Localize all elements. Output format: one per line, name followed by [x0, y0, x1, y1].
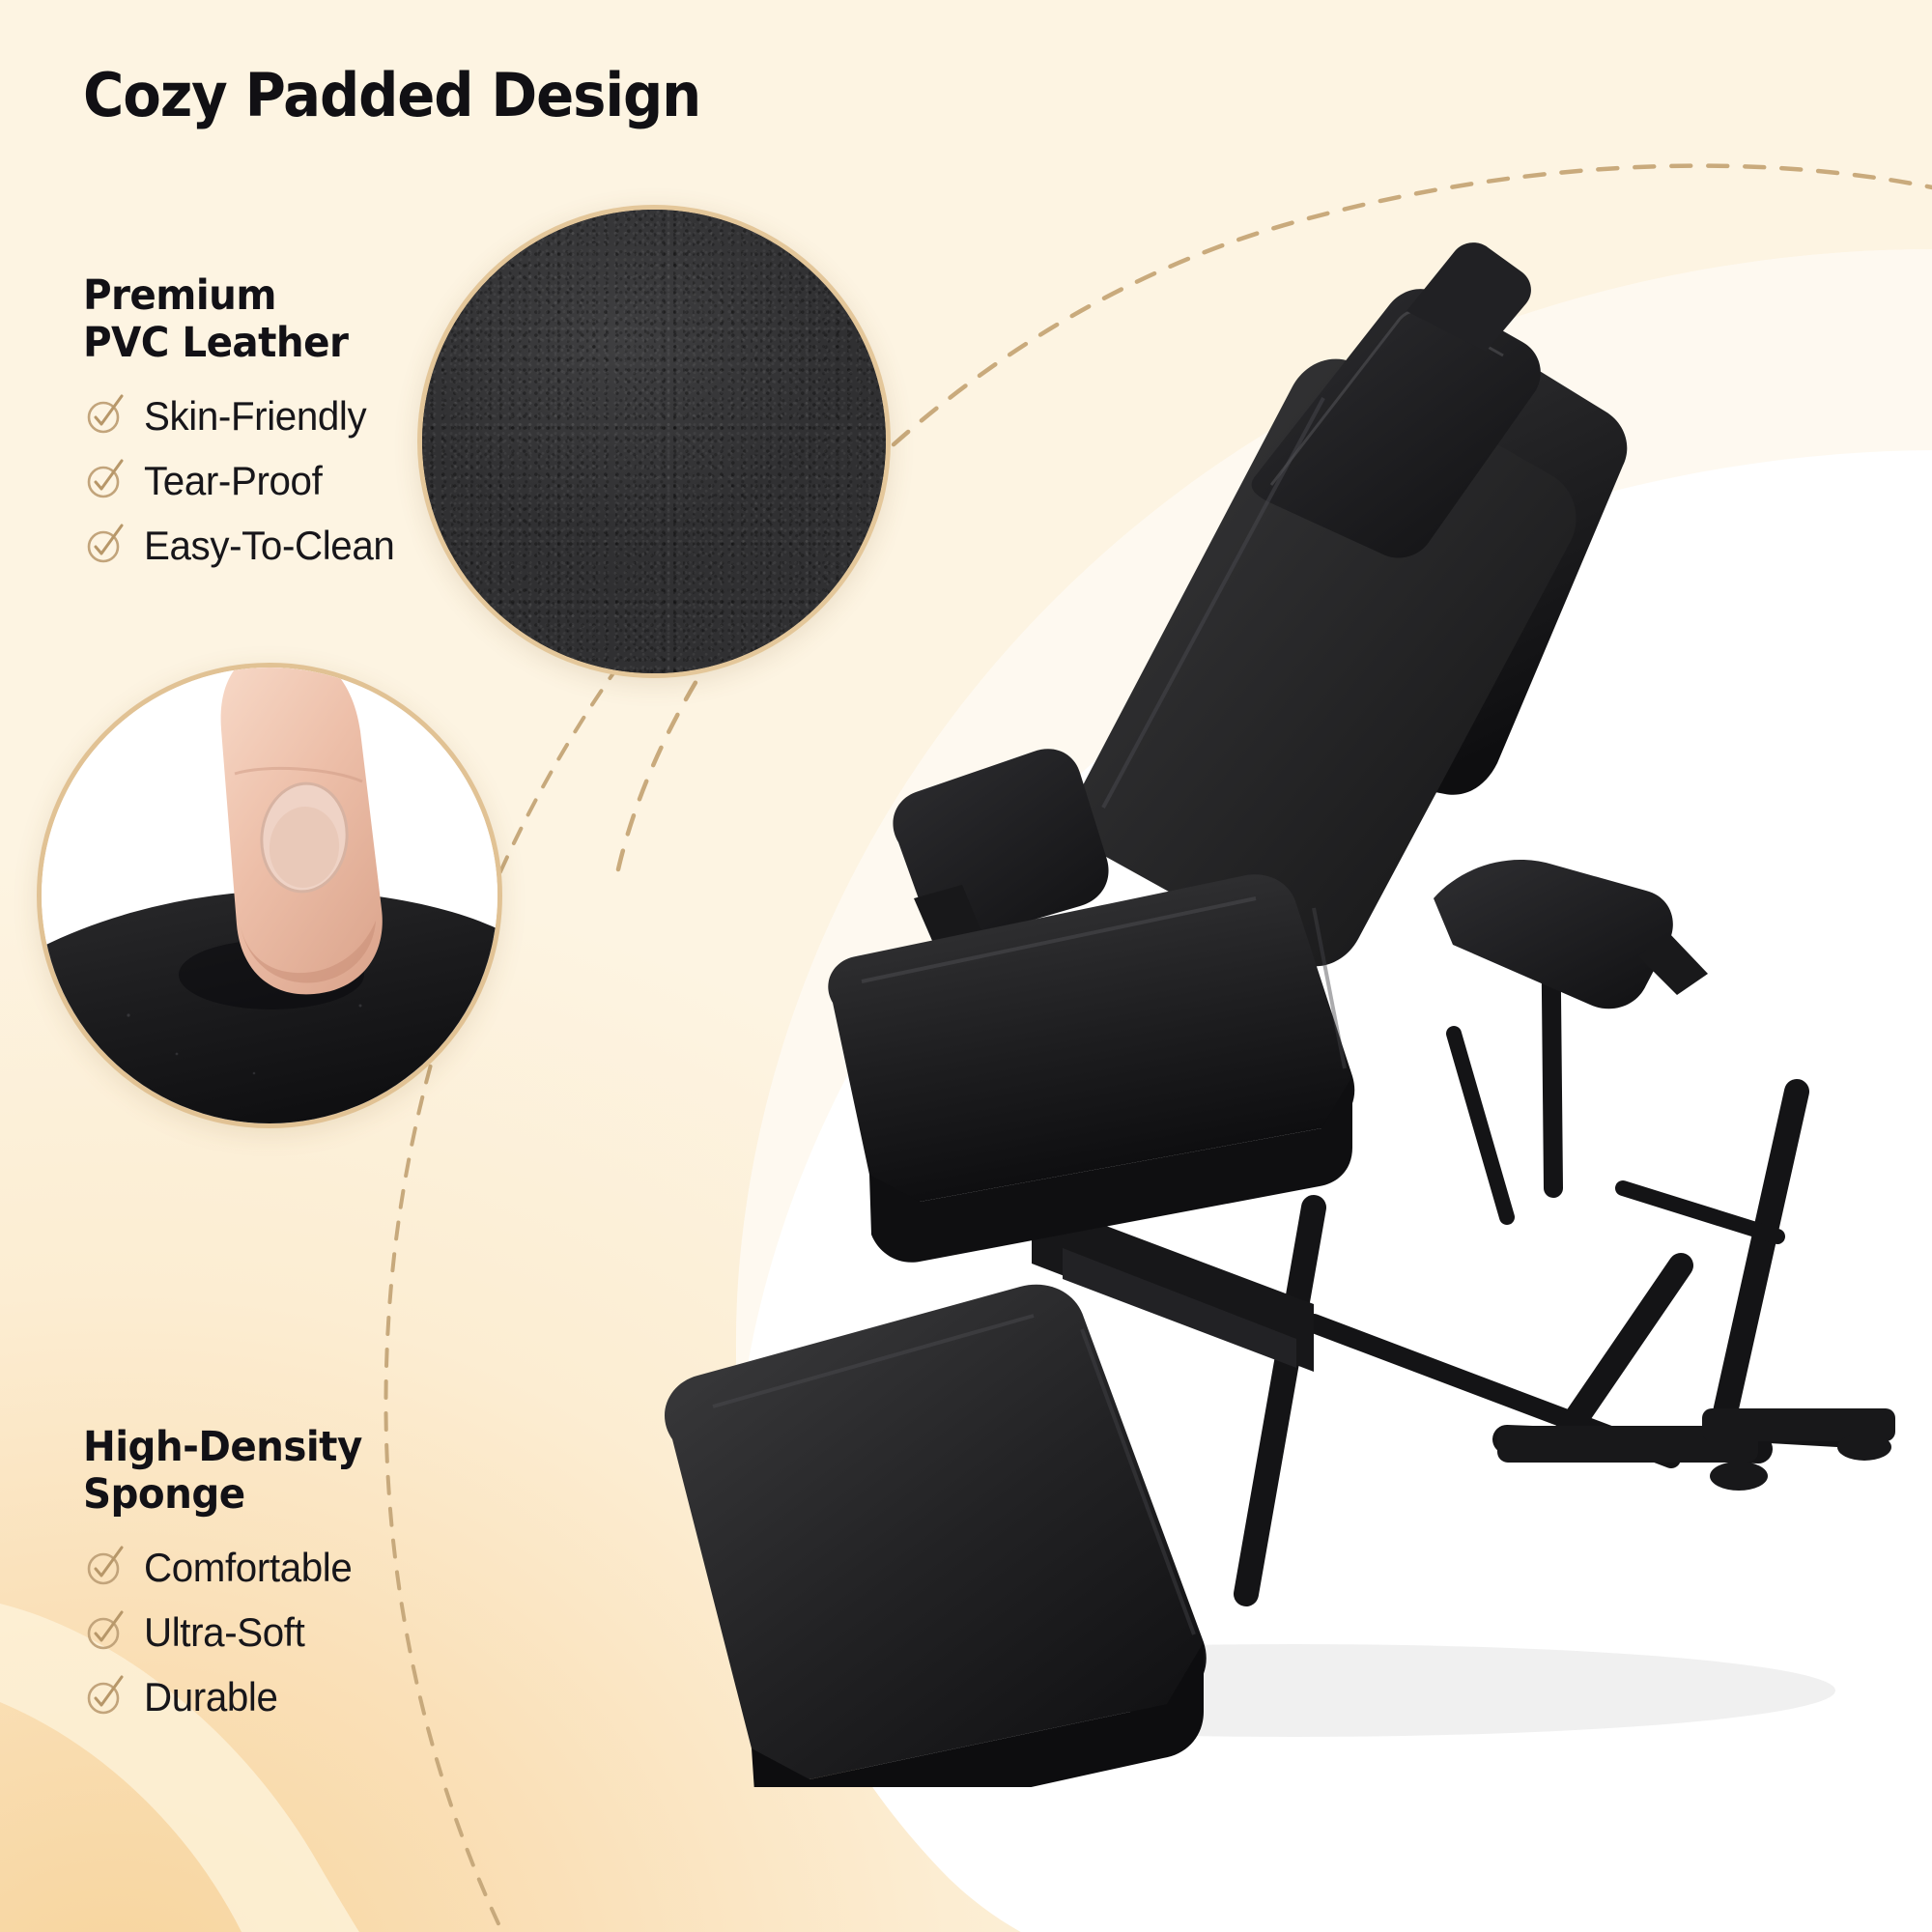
check-circle-icon	[83, 457, 128, 501]
list-item: Tear-Proof	[83, 457, 405, 505]
list-item-label: Ultra-Soft	[144, 1609, 304, 1656]
check-circle-icon	[83, 1544, 128, 1588]
check-circle-icon	[83, 392, 128, 437]
chair-armrest-right	[1434, 860, 1673, 1009]
list-item: Skin-Friendly	[83, 392, 405, 440]
feature-heading-line1: Premium	[83, 271, 276, 320]
list-item: Comfortable	[83, 1544, 380, 1592]
feature-heading: Premium PVC Leather	[83, 272, 385, 367]
callout-leather-texture	[417, 205, 891, 678]
feature-heading: High-Density Sponge	[83, 1424, 362, 1519]
list-item-label: Skin-Friendly	[144, 393, 366, 440]
check-circle-icon	[83, 1673, 128, 1718]
callout-sponge-press	[37, 663, 502, 1128]
list-item: Ultra-Soft	[83, 1608, 380, 1657]
list-item-label: Comfortable	[144, 1545, 352, 1591]
page-title: Cozy Padded Design	[83, 60, 700, 130]
feature-heading-line1: High-Density	[83, 1423, 362, 1471]
chair-leg-rest	[665, 1285, 1207, 1781]
check-circle-icon	[83, 1608, 128, 1653]
list-item-label: Tear-Proof	[144, 458, 322, 504]
infographic-canvas: Cozy Padded Design Premium PVC Leather S…	[0, 0, 1932, 1932]
feature-block-premium-pvc-leather: Premium PVC Leather Skin-Friendly	[83, 272, 405, 586]
leather-texture-fill	[422, 210, 886, 673]
feature-heading-line2: Sponge	[83, 1470, 245, 1519]
feature-block-high-density-sponge: High-Density Sponge Comfortable	[83, 1424, 380, 1738]
feature-bullet-list: Skin-Friendly Tear-Proof	[83, 392, 405, 570]
feature-heading-line2: PVC Leather	[83, 319, 348, 367]
list-item-label: Easy-To-Clean	[144, 523, 394, 569]
check-circle-icon	[83, 522, 128, 566]
feature-bullet-list: Comfortable Ultra-Soft D	[83, 1544, 380, 1721]
list-item-label: Durable	[144, 1674, 278, 1720]
list-item: Durable	[83, 1673, 380, 1721]
list-item: Easy-To-Clean	[83, 522, 405, 570]
